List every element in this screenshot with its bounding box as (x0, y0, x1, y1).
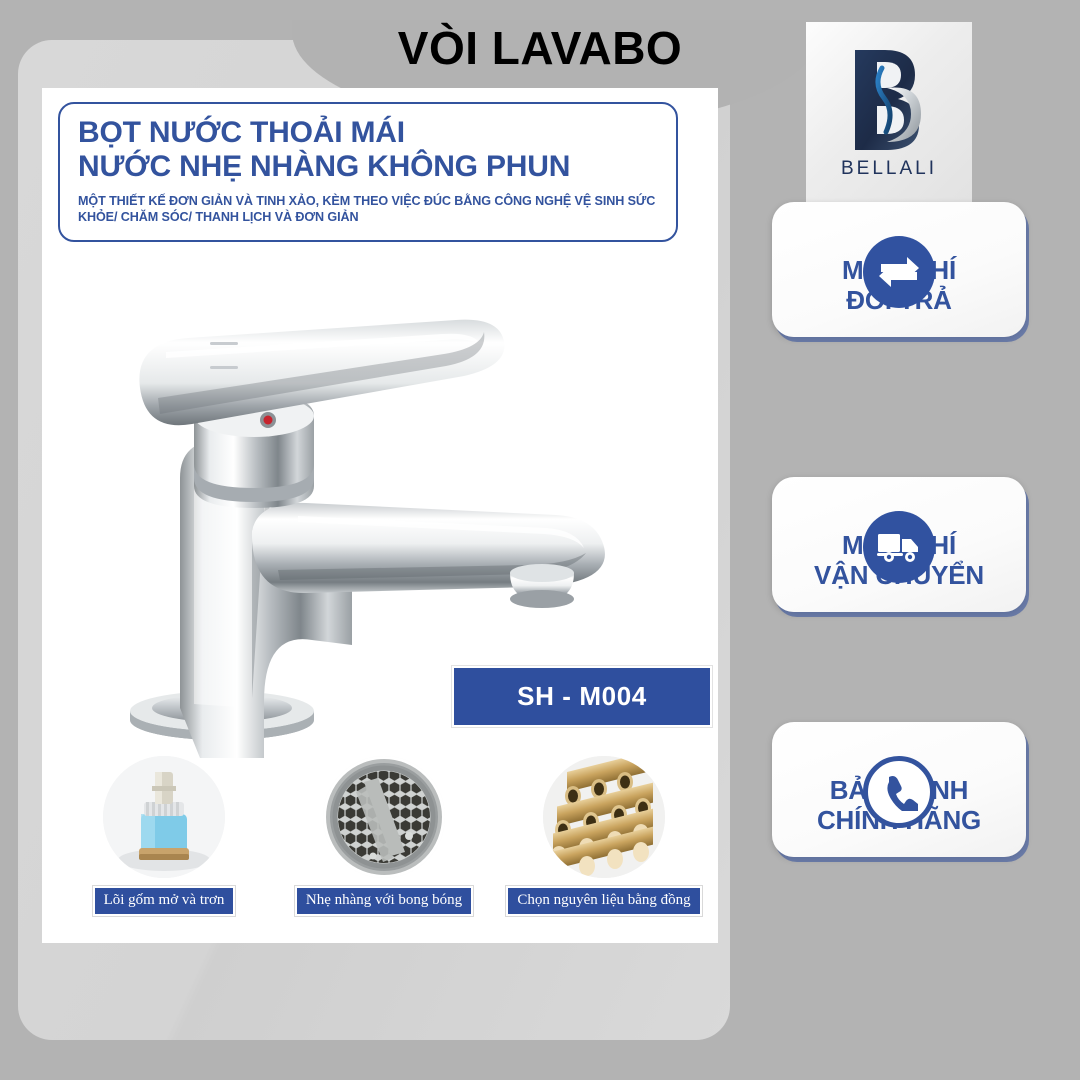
bellali-b-icon (841, 44, 937, 156)
headline-line-1: BỌT NƯỚC THOẢI MÁI (78, 116, 660, 150)
product-card: BỌT NƯỚC THOẢI MÁI NƯỚC NHẸ NHÀNG KHÔNG … (42, 88, 718, 943)
promo-warranty[interactable]: BẢO HÀNH CHÍNH HÃNG (772, 756, 1026, 857)
aerator-mesh-thumbnail (323, 756, 445, 878)
headline-line-2: NƯỚC NHẸ NHÀNG KHÔNG PHUN (78, 150, 660, 184)
promo-free-return[interactable]: MIỄN PHÍ ĐỔI TRẢ (772, 236, 1026, 337)
exchange-arrows-icon (863, 236, 935, 308)
phone-handset-icon (863, 756, 935, 828)
model-code-badge: SH - M004 (452, 666, 712, 727)
feature-item: Lõi gốm mở và trơn (64, 756, 264, 916)
brand-name: BELLALI (841, 158, 937, 180)
headline-subtext: MỘT THIẾT KẾ ĐƠN GIẢN VÀ TINH XẢO, KÈM T… (78, 193, 660, 226)
delivery-truck-icon (863, 511, 935, 583)
brand-logo: BELLALI (806, 22, 972, 202)
feature-item: Nhẹ nhàng với bong bóng (284, 756, 484, 916)
brass-tubes-thumbnail (543, 756, 665, 878)
feature-caption: Lõi gốm mở và trơn (93, 886, 236, 916)
feature-caption: Nhẹ nhàng với bong bóng (295, 886, 473, 916)
feature-thumbnail-row: Lõi gốm mở và trơn (54, 756, 714, 936)
feature-item: Chọn nguyên liệu bằng đồng (504, 756, 704, 916)
promo-free-shipping[interactable]: MIỄN PHÍ VẬN CHUYỂN (772, 511, 1026, 612)
ceramic-cartridge-thumbnail (103, 756, 225, 878)
headline-box: BỌT NƯỚC THOẢI MÁI NƯỚC NHẸ NHÀNG KHÔNG … (58, 102, 678, 242)
feature-caption: Chọn nguyên liệu bằng đồng (506, 886, 701, 916)
